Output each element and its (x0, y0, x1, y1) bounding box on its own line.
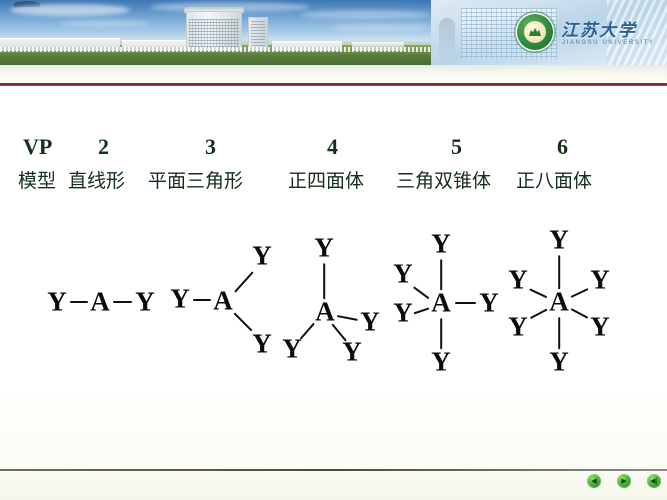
bond-line (570, 288, 588, 298)
navigation-buttons: ◀▶◀| (587, 474, 661, 488)
atom-ligand: Y (549, 349, 569, 376)
atom-ligand: Y (549, 227, 569, 254)
first-slide-button[interactable]: ◀| (647, 474, 661, 488)
footer-bar: ◀▶◀| (0, 471, 667, 500)
first-slide-icon: ◀| (650, 478, 658, 485)
atom-ligand: Y (590, 314, 610, 341)
previous-slide-icon: ◀ (591, 478, 596, 485)
next-slide-icon: ▶ (621, 478, 626, 485)
bond-line (558, 317, 560, 349)
slide-canvas: 江苏大学 JIANGSU UNIVERSITY VP 2 3 4 5 6 模型 … (0, 0, 667, 500)
atom-ligand: Y (508, 267, 528, 294)
bond-line (570, 308, 588, 319)
atom-ligand: Y (590, 267, 610, 294)
molecule-octahedral: YAYYYYY (0, 0, 667, 500)
next-slide-button[interactable]: ▶ (617, 474, 631, 488)
atom-center: A (549, 289, 569, 316)
previous-slide-button[interactable]: ◀ (587, 474, 601, 488)
bond-line (558, 255, 560, 289)
molecule-diagrams: YAYYAYYYAYYYYAYYYYYAYYYYY (0, 0, 667, 500)
bond-line (529, 288, 547, 298)
bond-line (529, 308, 547, 319)
atom-ligand: Y (508, 314, 528, 341)
